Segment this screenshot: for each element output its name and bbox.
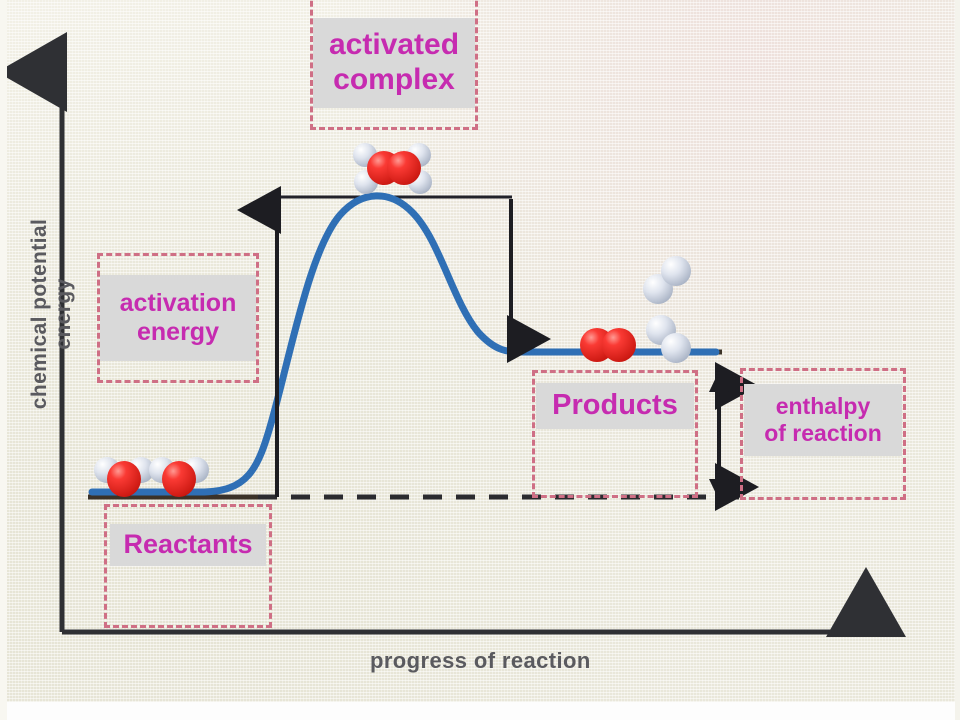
activated-complex-molecule xyxy=(353,143,432,194)
reactants-label: Reactants xyxy=(110,524,266,566)
energy-profile-diagram: activated complex activation energy Reac… xyxy=(0,0,960,720)
left-page-edge xyxy=(0,0,7,720)
enthalpy-of-reaction-label: enthalpy of reaction xyxy=(744,384,902,456)
enthalpy-label-line1: enthalpy xyxy=(776,393,871,420)
product-molecule-h2-a xyxy=(646,315,691,363)
activation-energy-label: activation energy xyxy=(100,275,256,361)
enthalpy-label-line2: of reaction xyxy=(764,420,882,447)
product-molecule-o2 xyxy=(580,328,636,362)
product-molecule-h2-b xyxy=(643,256,691,304)
enthalpy-of-reaction-arrow xyxy=(709,371,729,500)
x-axis-title: progress of reaction xyxy=(370,648,591,674)
activated-complex-label-line1: activated xyxy=(329,28,459,63)
reactants-box xyxy=(104,504,272,628)
right-page-edge xyxy=(955,0,960,720)
products-label: Products xyxy=(536,383,694,429)
activation-energy-label-line1: activation xyxy=(120,289,237,318)
activated-complex-label: activated complex xyxy=(313,18,475,108)
activated-complex-label-line2: complex xyxy=(333,63,455,98)
activation-energy-label-line2: energy xyxy=(137,318,219,347)
y-axis-title: chemical potential energy xyxy=(28,184,76,444)
